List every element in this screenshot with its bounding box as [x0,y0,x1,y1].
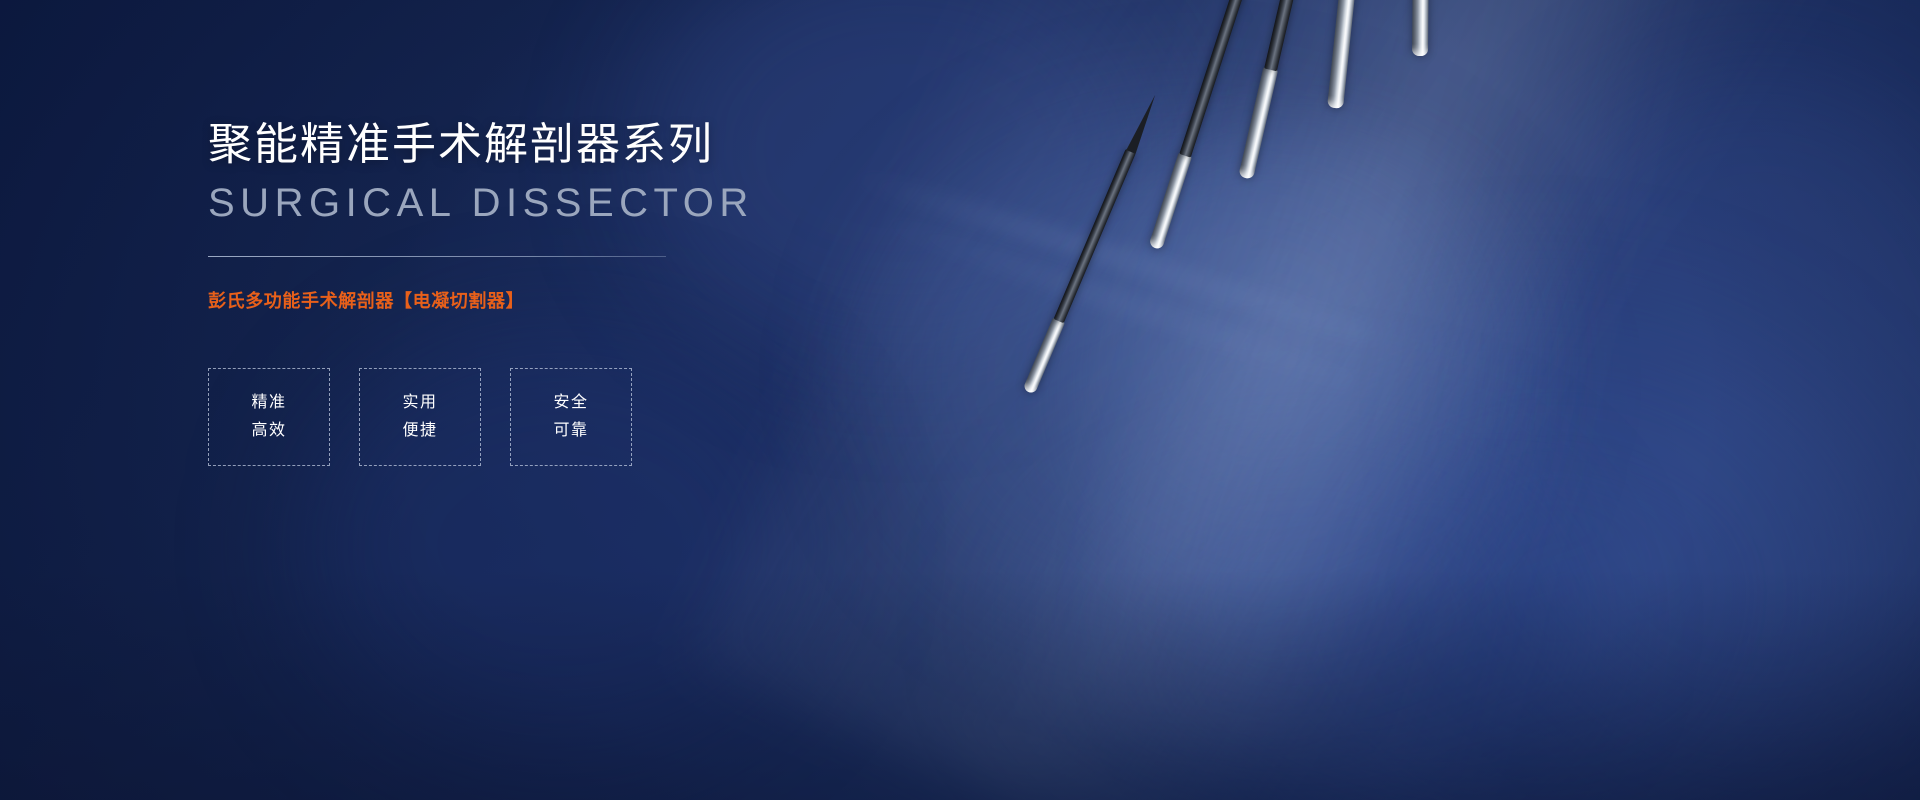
page-subtitle-en: SURGICAL DISSECTOR [208,178,908,228]
feature-line-1: 精准 [251,389,286,417]
feature-line-1: 安全 [553,389,588,417]
hero-banner: 聚能精准手术解剖器系列 SURGICAL DISSECTOR 彭氏多功能手术解剖… [0,0,1920,800]
feature-line-2: 高效 [251,417,286,445]
product-name-label: 彭氏多功能手术解剖器【电凝切割器】 [208,287,908,313]
divider [208,256,666,257]
feature-line-1: 实用 [402,389,437,417]
feature-line-2: 可靠 [553,417,588,445]
feature-box-group: 精准 高效 实用 便捷 安全 可靠 [208,368,908,466]
feature-line-2: 便捷 [402,417,437,445]
feature-box-precision: 精准 高效 [208,368,330,466]
hero-content: 聚能精准手术解剖器系列 SURGICAL DISSECTOR 彭氏多功能手术解剖… [208,118,908,466]
feature-box-safety: 安全 可靠 [510,368,632,466]
page-title: 聚能精准手术解剖器系列 [208,118,908,172]
feature-box-practical: 实用 便捷 [359,368,481,466]
